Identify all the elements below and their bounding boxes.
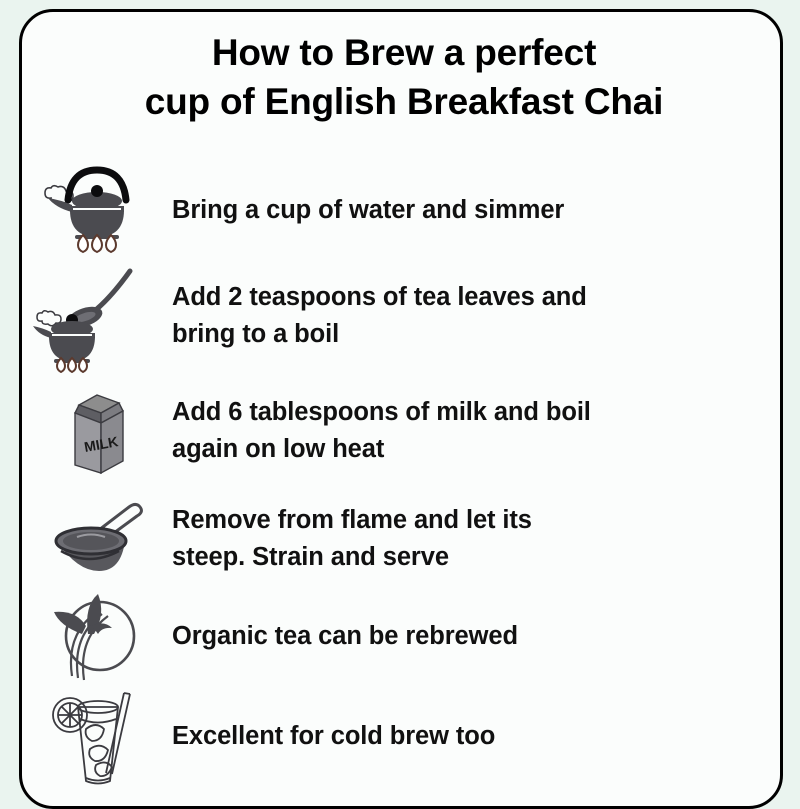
- step-line-1: Excellent for cold brew too: [172, 718, 762, 755]
- milk-carton-icon: MILK: [22, 377, 172, 483]
- kettle-with-spoon-icon: [22, 257, 172, 373]
- title-line-2: cup of English Breakfast Chai: [22, 78, 786, 127]
- step-line-1: Add 6 tablespoons of milk and boil: [172, 394, 762, 431]
- list-item: Add 2 teaspoons of tea leaves and bring …: [22, 256, 786, 374]
- tea-leaves-icon: [22, 590, 172, 682]
- page-title: How to Brew a perfect cup of English Bre…: [22, 29, 786, 127]
- step-line-1: Organic tea can be rebrewed: [172, 618, 762, 655]
- list-item: Excellent for cold brew too: [22, 682, 786, 790]
- list-item: Remove from flame and let its steep. Str…: [22, 486, 786, 590]
- title-line-1: How to Brew a perfect: [22, 29, 786, 78]
- step-line-2: again on low heat: [172, 431, 762, 468]
- poster-card: How to Brew a perfect cup of English Bre…: [19, 9, 783, 809]
- step-line-2: bring to a boil: [172, 316, 762, 353]
- step-line-1: Bring a cup of water and simmer: [172, 192, 762, 229]
- step-line-1: Add 2 teaspoons of tea leaves and: [172, 279, 762, 316]
- step-text: Remove from flame and let its steep. Str…: [172, 500, 786, 576]
- list-item: MILK Add 6 tablespoons of milk and boil …: [22, 374, 786, 486]
- list-item: Organic tea can be rebrewed: [22, 590, 786, 682]
- step-text: Add 2 teaspoons of tea leaves and bring …: [172, 277, 786, 353]
- iced-drink-glass-icon: [22, 681, 172, 791]
- tea-strainer-icon: [22, 489, 172, 587]
- list-item: Bring a cup of water and simmer: [22, 164, 786, 256]
- kettle-on-flame-icon: [22, 166, 172, 254]
- step-line-2: steep. Strain and serve: [172, 539, 762, 576]
- step-line-1: Remove from flame and let its: [172, 502, 762, 539]
- step-text: Bring a cup of water and simmer: [172, 192, 786, 229]
- step-text: Organic tea can be rebrewed: [172, 618, 786, 655]
- step-text: Excellent for cold brew too: [172, 718, 786, 755]
- step-text: Add 6 tablespoons of milk and boil again…: [172, 392, 786, 468]
- steps-list: Bring a cup of water and simmer: [22, 164, 786, 790]
